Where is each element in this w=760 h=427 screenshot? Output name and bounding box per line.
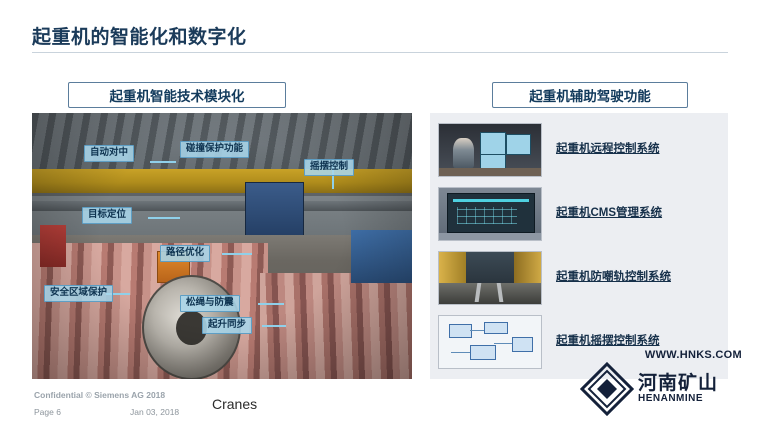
callout-target-positioning: 目标定位 bbox=[82, 207, 132, 224]
footer-page-number: Page 6 bbox=[34, 407, 61, 417]
title-divider bbox=[32, 52, 728, 53]
schematic-thumb bbox=[438, 315, 542, 369]
schematic-connector bbox=[451, 352, 469, 353]
callout-anti-collision: 碰撞保护功能 bbox=[180, 141, 249, 158]
schematic-block bbox=[512, 337, 532, 353]
callout-leader-5 bbox=[258, 303, 284, 305]
page-title: 起重机的智能化和数字化 bbox=[32, 22, 247, 49]
tunnel-floor bbox=[439, 283, 541, 304]
logo-name-cn: 河南矿山 bbox=[638, 374, 718, 394]
footer-confidential: Confidential © Siemens AG 2018 bbox=[34, 390, 165, 400]
logo-name-en: HENANMINE bbox=[638, 394, 718, 405]
monitor-icon bbox=[506, 134, 530, 155]
monitor-icon bbox=[480, 154, 506, 168]
left-section-header: 起重机智能技术模块化 bbox=[68, 82, 286, 108]
list-item[interactable]: 起重机远程控制系统 bbox=[438, 121, 720, 179]
callout-leader-1 bbox=[150, 161, 176, 163]
callout-safety-zone: 安全区域保护 bbox=[44, 285, 113, 302]
callout-sway-control: 摇摆控制 bbox=[304, 159, 354, 176]
callout-leader-2 bbox=[148, 217, 180, 219]
schematic-block bbox=[484, 322, 508, 333]
logo-text-block: 河南矿山 HENANMINE bbox=[638, 374, 718, 404]
callout-leader-3 bbox=[222, 253, 252, 255]
callout-path-optimization: 路径优化 bbox=[160, 245, 210, 262]
company-logo: 河南矿山 HENANMINE bbox=[580, 361, 744, 417]
operator-figure bbox=[453, 138, 473, 168]
schematic-block bbox=[470, 345, 496, 359]
schematic-connector bbox=[494, 343, 512, 344]
callout-auto-centering: 自动对中 bbox=[84, 145, 134, 162]
feature-label-remote-control: 起重机远程控制系统 bbox=[556, 143, 660, 157]
left-section-header-label: 起重机智能技术模块化 bbox=[110, 85, 245, 105]
feature-label-cms: 起重机CMS管理系统 bbox=[556, 207, 662, 221]
monitor-icon bbox=[480, 132, 506, 155]
list-item[interactable]: 起重机CMS管理系统 bbox=[438, 185, 720, 243]
feature-label-anti-derail: 起重机防嘲轨控制系统 bbox=[556, 271, 671, 285]
footer-date: Jan 03, 2018 bbox=[130, 407, 179, 417]
callout-hoist-sync: 起升同步 bbox=[202, 317, 252, 334]
schematic-connector bbox=[470, 330, 484, 331]
rail-track-thumb bbox=[438, 251, 542, 305]
right-section-header-label: 起重机辅助驾驶功能 bbox=[529, 85, 651, 105]
right-section-header: 起重机辅助驾驶功能 bbox=[492, 82, 688, 108]
footer-caption: Cranes bbox=[212, 396, 257, 412]
remote-console-thumb bbox=[438, 123, 542, 177]
feature-label-sway-control: 起重机摇摆控制系统 bbox=[556, 335, 660, 349]
assisted-driving-feature-list: 起重机远程控制系统 起重机CMS管理系统 起重机防嘲轨控制系统 起重机摇摆控制 bbox=[430, 113, 728, 379]
callout-slack-rope-anti-shock: 松绳与防震 bbox=[180, 295, 240, 312]
logo-website-url: WWW.HNKS.COM bbox=[645, 349, 742, 361]
crane-facility-photo: 自动对中 碰撞保护功能 摇摆控制 目标定位 路径优化 安全区域保护 松绳与防震 … bbox=[32, 113, 412, 379]
cms-software-thumb bbox=[438, 187, 542, 241]
callout-leader-6 bbox=[262, 325, 286, 327]
schematic-block bbox=[449, 324, 471, 337]
list-item[interactable]: 起重机防嘲轨控制系统 bbox=[438, 249, 720, 307]
monitor-base bbox=[439, 233, 541, 240]
software-screen bbox=[447, 193, 535, 232]
desk-surface bbox=[439, 168, 541, 176]
diamond-logo-icon bbox=[580, 362, 634, 416]
